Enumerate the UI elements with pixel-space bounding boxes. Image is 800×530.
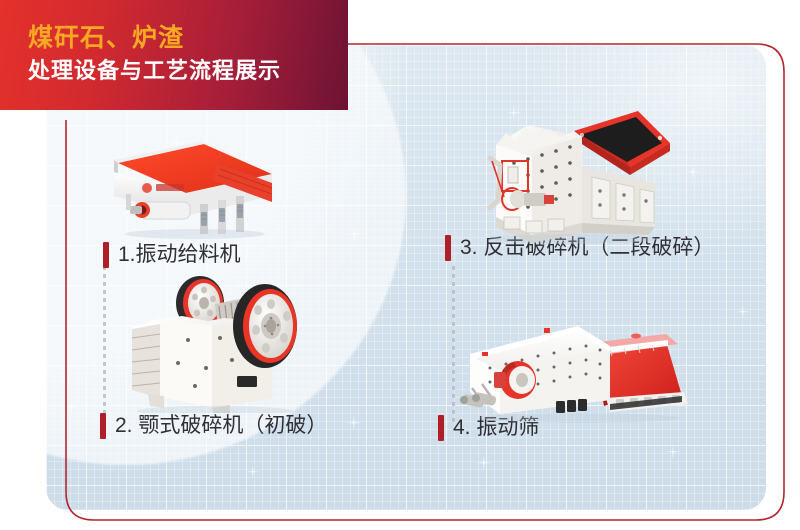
banner-line-2: 处理设备与工艺流程展示: [28, 56, 348, 86]
vibrating-feeder-image: [100, 130, 290, 240]
item-vibrating-feeder[interactable]: 1.振动给料机: [100, 130, 241, 268]
connector-dotted-right: [452, 262, 455, 422]
vibrating-screen-image: [460, 300, 715, 425]
item-1-marker: [103, 242, 109, 268]
item-3-marker: [445, 235, 451, 261]
page-root: 1.振动给料机: [0, 0, 800, 530]
banner-line-1: 煤矸石、炉渣: [28, 22, 348, 54]
item-1-label: 1.振动给料机: [118, 242, 241, 268]
item-4-marker: [438, 415, 444, 441]
item-jaw-crusher[interactable]: 2. 颚式破碎机（初破）: [120, 268, 327, 439]
connector-dotted-left: [103, 262, 106, 422]
feed-hopper: [574, 111, 670, 175]
item-2-caption: 2. 颚式破碎机（初破）: [100, 413, 327, 439]
item-vibrating-screen[interactable]: 4. 振动筛: [460, 300, 539, 441]
item-1-caption: 1.振动给料机: [103, 242, 241, 268]
impact-crusher-image: [470, 105, 675, 245]
item-2-label: 2. 颚式破碎机（初破）: [115, 413, 327, 439]
item-2-marker: [100, 413, 106, 439]
title-banner: 煤矸石、炉渣 处理设备与工艺流程展示: [0, 0, 348, 110]
item-impact-crusher[interactable]: 3. 反击破碎机（二段破碎）: [470, 105, 714, 261]
jaw-crusher-image: [120, 268, 330, 413]
flywheel-front: [233, 284, 297, 368]
